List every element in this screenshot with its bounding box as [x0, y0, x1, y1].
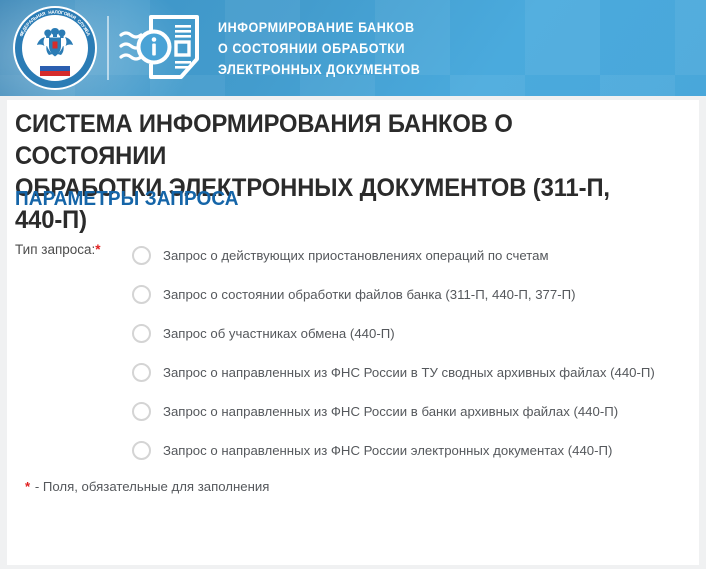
- request-type-option-label[interactable]: Запрос о направленных из ФНС России в ТУ…: [163, 365, 655, 380]
- request-type-option[interactable]: Запрос о действующих приостановлениях оп…: [132, 236, 692, 275]
- content-card: СИСТЕМА ИНФОРМИРОВАНИЯ БАНКОВ О СОСТОЯНИ…: [7, 100, 699, 565]
- page-root: ФЕДЕРАЛЬНАЯНАЛОГОВАЯСЛУЖБА: [0, 0, 706, 569]
- required-note-text: - Поля, обязательные для заполнения: [35, 479, 270, 494]
- request-type-option[interactable]: Запрос о состоянии обработки файлов банк…: [132, 275, 692, 314]
- required-fields-note: * - Поля, обязательные для заполнения: [25, 479, 269, 494]
- request-type-radio-group[interactable]: Запрос о действующих приостановлениях оп…: [132, 236, 692, 470]
- radio-button[interactable]: [132, 402, 151, 421]
- header-divider: [107, 16, 109, 80]
- section-title: ПАРАМЕТРЫ ЗАПРОСА: [15, 188, 239, 211]
- request-type-option[interactable]: Запрос о направленных из ФНС России в ТУ…: [132, 353, 692, 392]
- radio-button[interactable]: [132, 324, 151, 343]
- page-title: СИСТЕМА ИНФОРМИРОВАНИЯ БАНКОВ О СОСТОЯНИ…: [15, 108, 661, 236]
- request-type-option-label[interactable]: Запрос о состоянии обработки файлов банк…: [163, 287, 575, 302]
- request-type-option[interactable]: Запрос о направленных из ФНС России в ба…: [132, 392, 692, 431]
- site-header: ФЕДЕРАЛЬНАЯНАЛОГОВАЯСЛУЖБА: [0, 0, 706, 96]
- radio-button[interactable]: [132, 441, 151, 460]
- double-headed-eagle-icon: [35, 24, 75, 60]
- request-type-option-label[interactable]: Запрос об участниках обмена (440-П): [163, 326, 395, 341]
- request-type-label-text: Тип запроса:: [15, 242, 95, 257]
- radio-button[interactable]: [132, 285, 151, 304]
- russian-tricolor-ribbon: [40, 61, 70, 76]
- request-type-option-label[interactable]: Запрос о направленных из ФНС России в ба…: [163, 404, 618, 419]
- info-document-icon: [118, 9, 210, 87]
- request-type-option-label[interactable]: Запрос о направленных из ФНС России элек…: [163, 443, 612, 458]
- required-note-asterisk: *: [25, 479, 30, 494]
- request-type-label: Тип запроса:*: [15, 242, 101, 257]
- required-asterisk: *: [95, 242, 100, 257]
- request-type-option[interactable]: Запрос об участниках обмена (440-П): [132, 314, 692, 353]
- fts-emblem: ФЕДЕРАЛЬНАЯНАЛОГОВАЯСЛУЖБА: [13, 6, 97, 90]
- request-type-option[interactable]: Запрос о направленных из ФНС России элек…: [132, 431, 692, 470]
- radio-button[interactable]: [132, 246, 151, 265]
- radio-button[interactable]: [132, 363, 151, 382]
- request-type-option-label[interactable]: Запрос о действующих приостановлениях оп…: [163, 248, 549, 263]
- header-title: ИНФОРМИРОВАНИЕ БАНКОВ О СОСТОЯНИИ ОБРАБО…: [218, 17, 420, 80]
